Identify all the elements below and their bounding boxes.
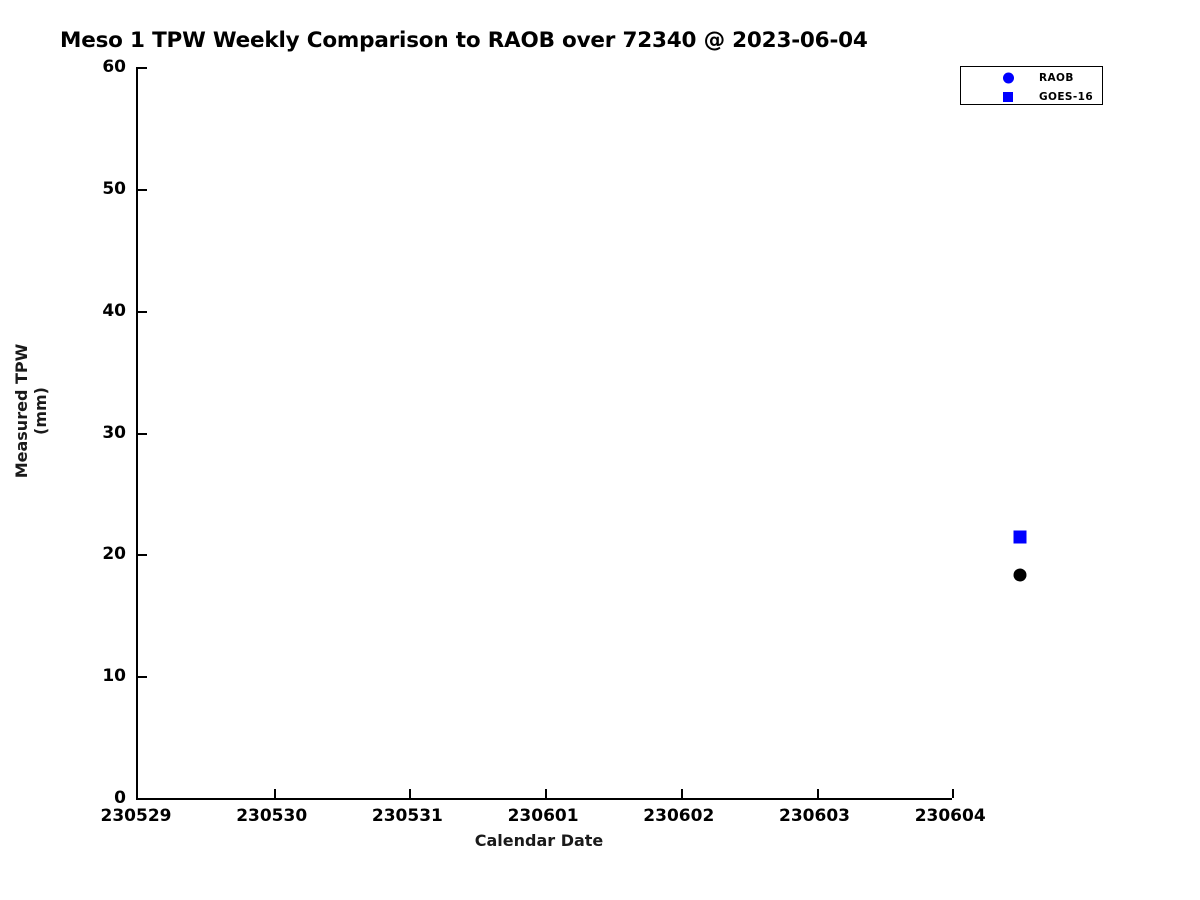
legend-label: GOES-16 [1039,91,1093,103]
y-axis-tick [138,676,147,678]
legend-circle-icon [1003,72,1014,83]
y-axis-tick [138,798,147,800]
y-axis-tick [138,311,147,313]
legend-label: RAOB [1039,72,1074,84]
x-axis-tick [409,789,411,798]
x-axis-tick-label: 230529 [76,806,196,826]
x-axis-tick [545,789,547,798]
y-axis-tick-label: 10 [102,666,126,686]
data-point-raob [1014,569,1027,582]
legend-entry-goes-16[interactable]: GOES-16 [961,87,1102,106]
y-axis-tick-label: 30 [102,423,126,443]
y-axis-title: Measured TPW (mm) [12,326,50,496]
y-axis-tick [138,67,147,69]
y-axis-tick-label: 20 [102,544,126,564]
y-axis-tick [138,433,147,435]
x-axis-title: Calendar Date [0,831,1078,850]
x-axis-tick [681,789,683,798]
chart-legend: RAOBGOES-16 [960,66,1103,105]
x-axis-tick-label: 230603 [755,806,875,826]
y-axis-tick-label: 60 [102,57,126,77]
y-axis-tick-label: 50 [102,179,126,199]
y-axis-tick-label: 40 [102,301,126,321]
x-axis-tick-label: 230604 [890,806,1010,826]
legend-square-icon [1003,92,1013,102]
y-axis-tick-label: 0 [114,788,126,808]
y-axis-tick [138,189,147,191]
legend-entry-raob[interactable]: RAOB [961,68,1102,87]
x-axis-tick [817,789,819,798]
x-axis-tick [274,789,276,798]
data-point-goes-16 [1014,531,1027,544]
x-axis-tick [952,789,954,798]
x-axis-tick-label: 230601 [483,806,603,826]
y-axis-tick [138,554,147,556]
page-title: Meso 1 TPW Weekly Comparison to RAOB ove… [60,28,868,53]
plot-area [136,67,952,800]
x-axis-tick-label: 230530 [212,806,332,826]
x-axis-tick-label: 230602 [619,806,739,826]
x-axis-tick-label: 230531 [347,806,467,826]
